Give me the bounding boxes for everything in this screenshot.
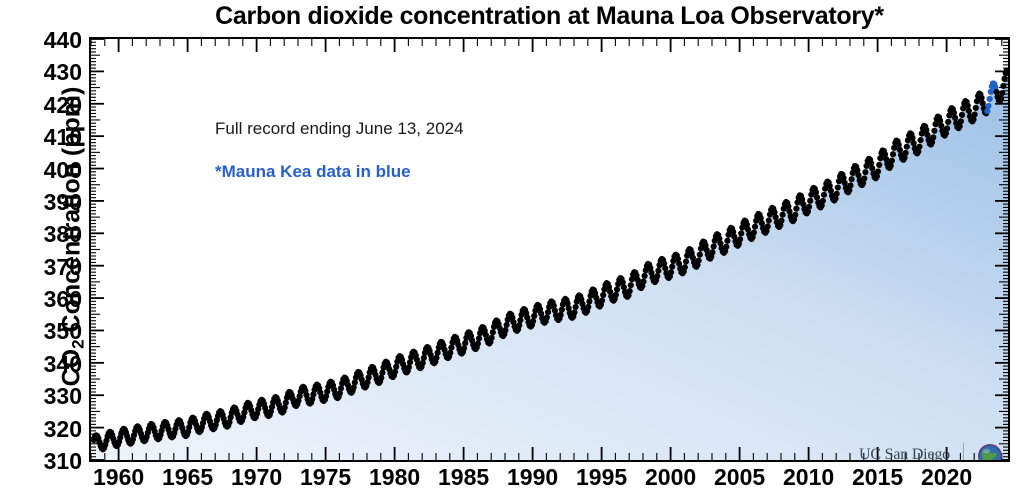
plot-svg [91,39,1008,460]
data-point-mauna-loa [433,355,439,361]
data-point-mauna-loa [600,292,606,298]
data-point-mauna-loa [461,345,467,351]
data-point-mauna-loa [544,314,550,320]
data-point-mauna-loa [738,230,744,236]
data-point-mauna-loa [966,108,972,114]
data-point-mauna-loa [792,212,798,218]
data-point-mauna-loa [931,128,937,134]
x-tick-label-1985: 1985 [438,464,489,491]
data-point-mauna-loa [504,322,510,328]
y-axis-label: CO2 Concentration (ppm) [58,47,87,427]
data-point-mauna-loa [545,309,551,315]
data-point-mauna-loa [973,105,979,111]
data-point-mauna-loa [890,151,896,157]
data-point-mauna-loa [654,273,660,279]
data-point-mauna-loa [586,298,592,304]
data-point-mauna-loa [965,103,971,109]
data-point-mauna-loa [876,162,882,168]
y-axis-label-prefix: CO [58,349,86,387]
data-point-mauna-loa [834,191,840,197]
plot-area: Full record ending June 13, 2024 *Mauna … [89,37,1010,462]
data-point-mauna-loa [1000,83,1006,89]
data-point-mauna-loa [640,278,646,284]
data-point-mauna-loa [877,155,883,161]
data-point-mauna-kea [988,89,994,95]
scripps-text: SCRIPPSINSTITUTION OF OCEANOGRAPHY [1008,441,1010,462]
x-tick-label-2015: 2015 [852,464,903,491]
data-point-mauna-kea [985,103,991,109]
data-point-mauna-loa [668,269,674,275]
data-point-mauna-loa [421,355,427,361]
ucsd-logo: UC San Diego [859,446,950,462]
data-point-mauna-loa [765,223,771,229]
data-point-mauna-loa [516,322,522,328]
data-point-mauna-loa [780,212,786,218]
data-point-mauna-loa [655,268,661,274]
x-tick-label-2010: 2010 [783,464,834,491]
data-point-mauna-kea [987,96,993,102]
data-point-mauna-loa [628,282,634,288]
data-point-mauna-loa [951,110,957,116]
scripps-line-1: SCRIPPSINSTITUTION OF [1008,441,1010,456]
y-axis-label-subscript: 2 [69,339,88,348]
data-point-mauna-loa [847,182,853,188]
data-point-mauna-loa [978,95,984,101]
data-point-mauna-loa [599,297,605,303]
data-point-mauna-loa [766,217,772,223]
data-point-mauna-kea [984,108,990,114]
data-point-mauna-loa [669,264,675,270]
co2-chart-figure: Carbon dioxide concentration at Mauna Lo… [0,0,1024,494]
data-point-mauna-loa [559,307,565,313]
data-point-mauna-loa [517,317,523,323]
data-point-mauna-loa [531,313,537,319]
data-point-mauna-loa [462,340,468,346]
data-point-mauna-loa [972,111,978,117]
data-point-mauna-loa [980,100,986,106]
data-point-mauna-loa [490,329,496,335]
x-tick-label-1995: 1995 [576,464,627,491]
data-point-mauna-loa [1001,76,1007,82]
data-point-mauna-loa [814,194,820,200]
data-point-mauna-loa [938,123,944,129]
x-tick-label-2020: 2020 [921,464,972,491]
data-point-mauna-loa [476,335,482,341]
data-point-mauna-loa [683,258,689,264]
globe-icon [977,443,1003,462]
data-point-mauna-loa [778,218,784,224]
data-point-mauna-loa [709,249,715,255]
annotation-record-end: Full record ending June 13, 2024 [215,119,464,139]
data-point-mauna-loa [489,335,495,341]
annotation-mauna-kea: *Mauna Kea data in blue [215,162,411,182]
data-point-mauna-loa [835,184,841,190]
data-point-mauna-loa [897,147,903,153]
x-tick-label-1980: 1980 [369,464,420,491]
data-point-mauna-loa [889,158,895,164]
data-point-mauna-loa [944,125,950,131]
chart-title: Carbon dioxide concentration at Mauna Lo… [89,2,1010,31]
data-point-mauna-loa [435,350,441,356]
data-point-mauna-loa [752,224,758,230]
data-point-mauna-loa [861,175,867,181]
data-point-mauna-loa [475,341,481,347]
data-point-mauna-loa [502,327,508,333]
data-point-mauna-loa [820,198,826,204]
data-point-mauna-loa [909,135,915,141]
data-point-mauna-loa [868,160,874,166]
data-point-mauna-loa [530,318,536,324]
data-point-mauna-loa [696,257,702,263]
data-point-mauna-loa [958,118,964,124]
data-point-mauna-loa [614,286,620,292]
data-point-mauna-loa [849,176,855,182]
data-point-mauna-loa [855,172,861,178]
branding-logos: UC San Diego SCRIPPSINSTITUTION OF OCEAN… [859,441,1010,462]
data-point-mauna-loa [875,168,881,174]
scripps-wordmark: SCRIPPS [1008,440,1010,455]
x-tick-label-1960: 1960 [93,464,144,491]
x-tick-label-2005: 2005 [714,464,765,491]
data-point-mauna-loa [821,192,827,198]
data-point-mauna-loa [904,144,910,150]
y-axis-label-suffix: Concentration (ppm) [58,87,86,340]
x-tick-label-1965: 1965 [162,464,213,491]
x-tick-label-1970: 1970 [231,464,282,491]
x-tick-label-1975: 1975 [300,464,351,491]
data-point-mauna-loa [558,312,564,318]
x-tick-label-2000: 2000 [645,464,696,491]
data-point-mauna-loa [952,115,958,121]
data-point-mauna-loa [945,119,951,125]
data-point-mauna-loa [724,238,730,244]
data-point-mauna-loa [571,309,577,315]
y-tick-label-310: 310 [0,448,82,475]
data-point-mauna-loa [682,264,688,270]
data-point-mauna-loa [916,144,922,150]
data-point-mauna-loa [959,112,965,118]
data-point-mauna-loa [737,236,743,242]
data-point-mauna-loa [806,204,812,210]
data-point-mauna-loa [930,134,936,140]
data-point-mauna-loa [793,206,799,212]
data-point-mauna-loa [911,140,917,146]
data-point-mauna-loa [723,244,729,250]
data-point-mauna-loa [613,292,619,298]
data-point-mauna-loa [448,345,454,351]
data-point-mauna-loa [751,229,757,235]
data-point-mauna-loa [999,90,1005,96]
data-point-mauna-loa [642,273,648,279]
scripps-line-2: OCEANOGRAPHY [1008,456,1010,462]
data-point-mauna-loa [862,169,868,175]
scripps-logo: SCRIPPSINSTITUTION OF OCEANOGRAPHY [977,441,1010,462]
data-point-mauna-loa [697,251,703,257]
data-point-mauna-loa [573,304,579,310]
data-point-mauna-loa [918,137,924,143]
data-point-mauna-loa [869,165,875,171]
data-point-mauna-loa [711,243,717,249]
data-point-mauna-loa [379,370,385,376]
data-point-mauna-loa [585,304,591,310]
data-point-mauna-loa [998,95,1004,101]
data-point-mauna-loa [627,288,633,294]
x-tick-label-1990: 1990 [507,464,558,491]
logo-divider [963,443,964,462]
data-point-mauna-loa [903,150,909,156]
data-point-mauna-loa [807,198,813,204]
